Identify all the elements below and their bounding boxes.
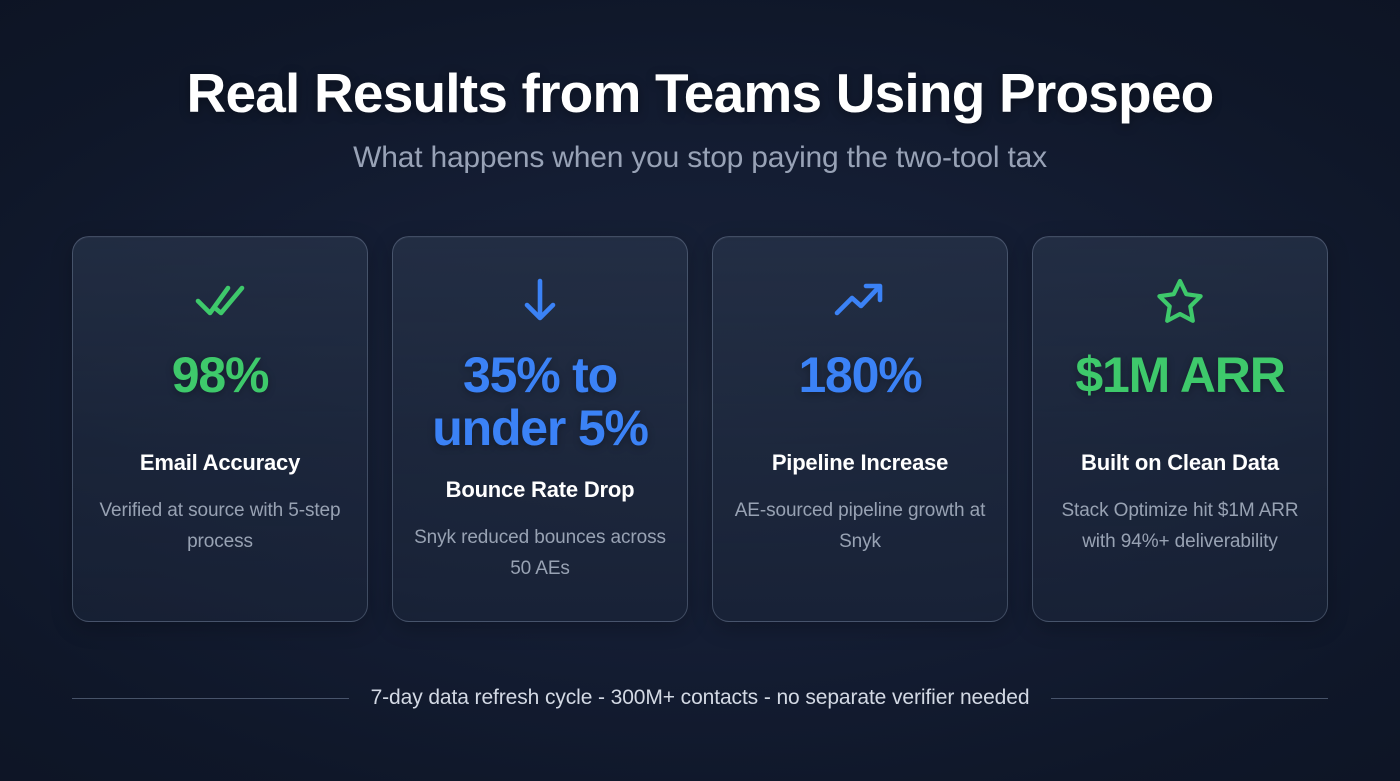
stat-description: Stack Optimize hit $1M ARR with 94%+ del… [1051, 496, 1309, 557]
stat-card-email-accuracy[interactable]: 98% Email Accuracy Verified at source wi… [72, 236, 368, 622]
stat-description: Verified at source with 5-step process [91, 496, 349, 557]
footer-text: 7-day data refresh cycle - 300M+ contact… [371, 686, 1030, 710]
stat-value: 98% [172, 349, 268, 402]
stat-card-pipeline-increase[interactable]: 180% Pipeline Increase AE-sourced pipeli… [712, 236, 1008, 622]
stat-card-grid: 98% Email Accuracy Verified at source wi… [72, 236, 1328, 622]
footer-divider-left [72, 698, 349, 699]
stat-label: Pipeline Increase [772, 450, 948, 476]
stat-label: Built on Clean Data [1081, 450, 1279, 476]
page-title: Real Results from Teams Using Prospeo [0, 66, 1400, 121]
stat-value: $1M ARR [1075, 349, 1284, 402]
stat-label: Bounce Rate Drop [446, 477, 635, 503]
stat-card-built-on-clean-data[interactable]: $1M ARR Built on Clean Data Stack Optimi… [1032, 236, 1328, 622]
stat-description: Snyk reduced bounces across 50 AEs [411, 523, 669, 584]
trending-up-icon [833, 277, 887, 323]
footer: 7-day data refresh cycle - 300M+ contact… [72, 676, 1328, 720]
stat-value: 180% [798, 349, 921, 402]
stat-description: AE-sourced pipeline growth at Snyk [731, 496, 989, 557]
stat-label: Email Accuracy [140, 450, 300, 476]
stat-card-bounce-rate-drop[interactable]: 35% to under 5% Bounce Rate Drop Snyk re… [392, 236, 688, 622]
stat-value: 35% to under 5% [411, 349, 669, 455]
footer-divider-right [1051, 698, 1328, 699]
header: Real Results from Teams Using Prospeo Wh… [0, 0, 1400, 174]
slide-canvas: Real Results from Teams Using Prospeo Wh… [0, 0, 1400, 781]
arrow-down-icon [520, 277, 560, 323]
star-outline-icon [1156, 277, 1204, 323]
double-check-icon [194, 277, 246, 323]
page-subtitle: What happens when you stop paying the tw… [0, 142, 1400, 174]
